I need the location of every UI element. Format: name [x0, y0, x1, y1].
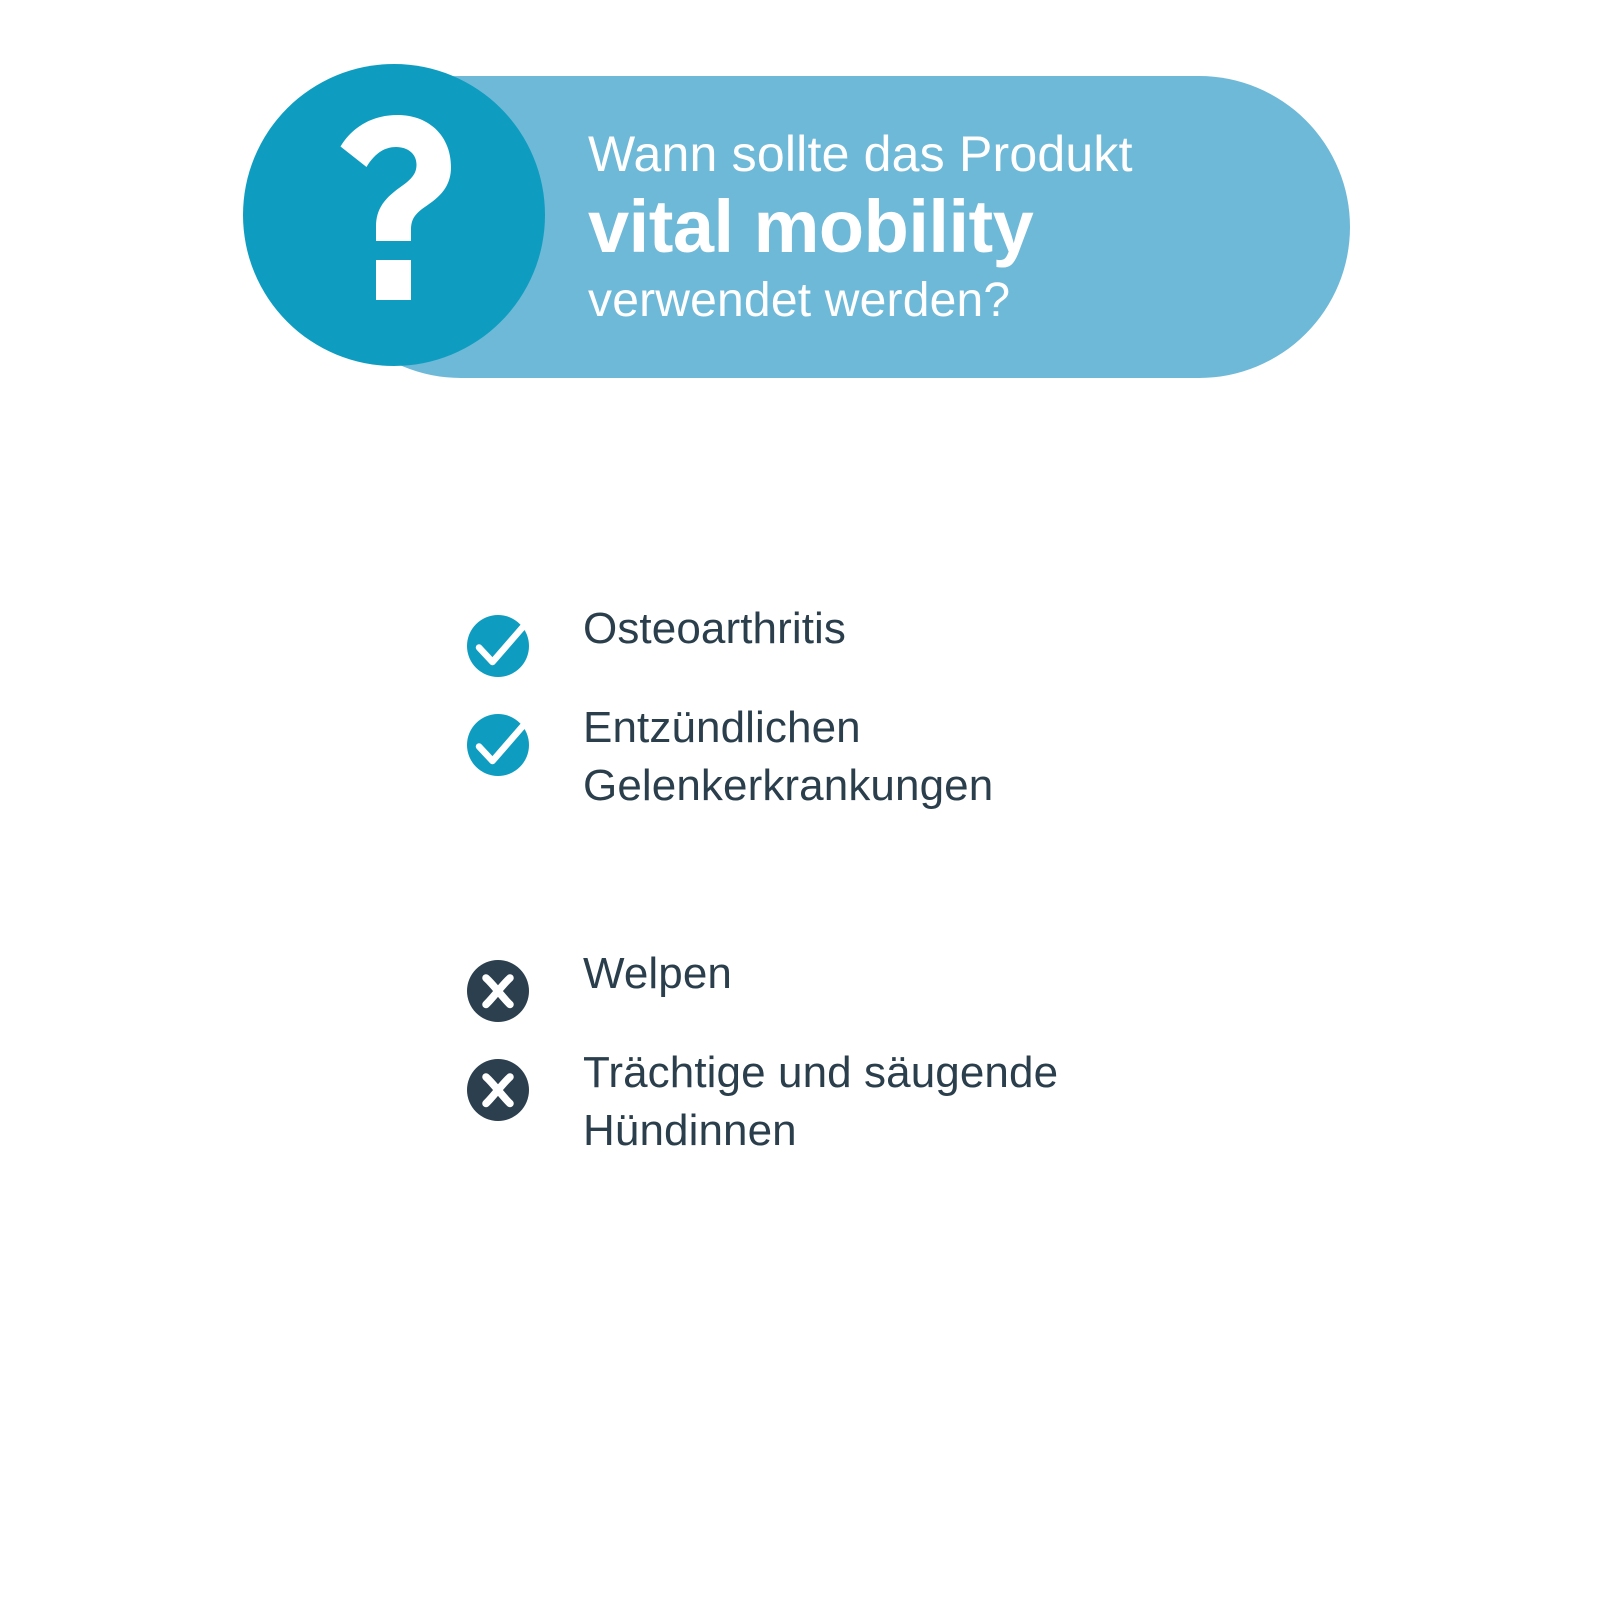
list-item-label: Trächtige und säugende Hündinnen — [583, 1044, 1158, 1160]
check-circle-icon — [466, 614, 530, 678]
x-circle-icon — [466, 959, 530, 1023]
list-item-label: Osteoarthritis — [583, 600, 1158, 658]
x-circle-icon — [466, 1058, 530, 1122]
header-product-name: vital mobility — [588, 186, 1288, 269]
indications-list: Osteoarthritis Entzündlichen Gelenkerkra… — [466, 600, 1226, 815]
list-item: Osteoarthritis — [466, 600, 1226, 678]
header-line-1: Wann sollte das Produkt — [588, 125, 1288, 184]
check-circle-icon — [466, 713, 530, 777]
list-item-label: Welpen — [583, 945, 1158, 1003]
header-line-3: verwendet werden? — [588, 273, 1288, 330]
list-item: Welpen — [466, 945, 1226, 1023]
list-item: Trächtige und säugende Hündinnen — [466, 1044, 1226, 1160]
list-item-label: Entzündlichen Gelenkerkrankungen — [583, 699, 1158, 815]
question-mark-icon — [327, 115, 467, 315]
list-item: Entzündlichen Gelenkerkrankungen — [466, 699, 1226, 815]
contraindications-list: Welpen Trächtige und säugende Hündinnen — [466, 945, 1226, 1160]
question-mark-badge — [243, 64, 545, 366]
header-text-block: Wann sollte das Produkt vital mobility v… — [588, 76, 1288, 378]
